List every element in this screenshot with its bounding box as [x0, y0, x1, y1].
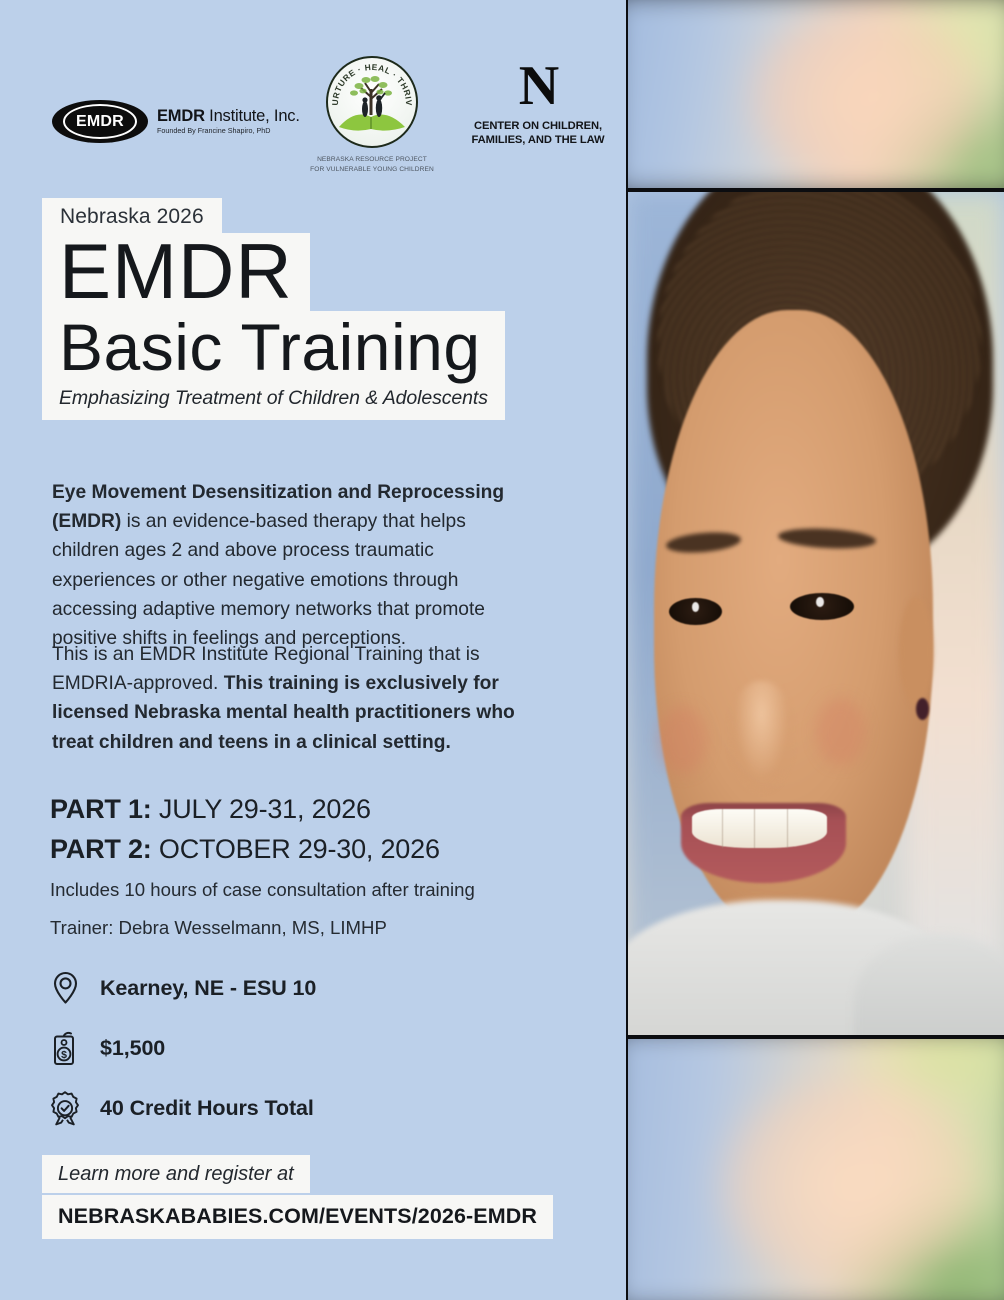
- portrait-earring: [916, 698, 929, 720]
- child-portrait-image: [628, 192, 1004, 1035]
- title-line-2: Basic Training: [42, 311, 505, 382]
- part-2-label: PART 2:: [50, 834, 152, 864]
- schedule-part-2: PART 2: OCTOBER 29-30, 2026: [50, 830, 570, 870]
- emdr-wordmark: EMDR Institute, Inc. Founded By Francine…: [157, 108, 300, 135]
- fact-price-label: $1,500: [100, 1036, 165, 1061]
- photo-panel-main-portrait: [628, 192, 1004, 1035]
- schedule-part-1: PART 1: JULY 29-31, 2026: [50, 790, 570, 830]
- blurred-background-image: [628, 0, 1004, 188]
- portrait-nose: [730, 681, 794, 791]
- logo-row: EMDR EMDR Institute, Inc. Founded By Fra…: [46, 56, 566, 180]
- title-subtitle: Emphasizing Treatment of Children & Adol…: [42, 383, 505, 420]
- portrait-cheek-right: [816, 698, 865, 765]
- photo-panel-blurred-bottom: [628, 1039, 1004, 1300]
- portrait-teeth: [692, 809, 827, 848]
- emdr-oval-mark-icon: EMDR: [52, 100, 148, 143]
- portrait-eye-highlight-right: [816, 597, 824, 607]
- facts-list: Kearney, NE - ESU 10 $ $1,500: [46, 958, 566, 1138]
- title-line-2-group: Basic Training Emphasizing Treatment of …: [42, 311, 505, 419]
- ccfl-caption-line1: CENTER ON CHILDREN,: [470, 119, 606, 133]
- cta-block: Learn more and register at NEBRASKABABIE…: [42, 1155, 553, 1239]
- part-2-value: OCTOBER 29-30, 2026: [152, 834, 440, 864]
- fact-location-label: Kearney, NE - ESU 10: [100, 976, 316, 1001]
- fact-credit-hours: 40 Credit Hours Total: [46, 1078, 566, 1138]
- nrp-caption-line2: FOR VULNERABLE YOUNG CHILDREN: [292, 165, 452, 175]
- schedule-includes: Includes 10 hours of case consultation a…: [50, 879, 570, 901]
- nrp-caption-line1: NEBRASKA RESOURCE PROJECT: [292, 155, 452, 165]
- award-ribbon-icon: [46, 1088, 84, 1128]
- nebraska-n-icon: N: [470, 60, 606, 113]
- map-pin-icon: [46, 968, 84, 1008]
- fact-location: Kearney, NE - ESU 10: [46, 958, 566, 1018]
- fact-credit-hours-label: 40 Credit Hours Total: [100, 1096, 314, 1121]
- eligibility-paragraph: This is an EMDR Institute Regional Train…: [52, 640, 530, 757]
- title-line-1: EMDR: [42, 233, 310, 311]
- photo-column: [626, 0, 1004, 1300]
- content-column: EMDR EMDR Institute, Inc. Founded By Fra…: [0, 0, 626, 1300]
- photo-panel-blurred-top: [628, 0, 1004, 188]
- schedule-block: PART 1: JULY 29-31, 2026 PART 2: OCTOBER…: [50, 790, 570, 939]
- emdr-institute-name: EMDR Institute, Inc.: [157, 108, 300, 125]
- part-1-label: PART 1:: [50, 794, 152, 824]
- price-tag-icon: $: [46, 1028, 84, 1068]
- trainer-name: Trainer: Debra Wesselmann, MS, LIMHP: [50, 917, 570, 939]
- logo-emdr-institute: EMDR EMDR Institute, Inc. Founded By Fra…: [52, 100, 300, 143]
- part-1-value: JULY 29-31, 2026: [152, 794, 371, 824]
- tree-and-children-illustration-icon: [335, 69, 409, 135]
- emdr-institute-tagline: Founded By Francine Shapiro, PhD: [157, 127, 300, 135]
- cta-url[interactable]: NEBRASKABABIES.COM/EVENTS/2026-EMDR: [42, 1195, 553, 1239]
- fact-price: $ $1,500: [46, 1018, 566, 1078]
- nrp-caption: NEBRASKA RESOURCE PROJECT FOR VULNERABLE…: [292, 155, 452, 174]
- cta-lead-text: Learn more and register at: [42, 1155, 310, 1193]
- logo-nebraska-resource-project: NURTURE · HEAL · THRIVE: [292, 56, 452, 174]
- ccfl-caption: CENTER ON CHILDREN, FAMILIES, AND THE LA…: [470, 119, 606, 147]
- logo-center-on-children: N CENTER ON CHILDREN, FAMILIES, AND THE …: [470, 60, 606, 147]
- ccfl-caption-line2: FAMILIES, AND THE LAW: [470, 133, 606, 147]
- flyer-page: EMDR EMDR Institute, Inc. Founded By Fra…: [0, 0, 1004, 1300]
- tree-emblem-icon: NURTURE · HEAL · THRIVE: [326, 56, 418, 148]
- intro-paragraph: Eye Movement Desensitization and Reproce…: [52, 478, 530, 653]
- title-block: Nebraska 2026 EMDR Basic Training Emphas…: [42, 198, 505, 420]
- portrait-ear: [899, 597, 933, 707]
- blurred-background-image-bottom: [628, 1039, 1004, 1300]
- portrait-cheek-left: [658, 706, 707, 773]
- emdr-mark-text: EMDR: [63, 104, 137, 139]
- svg-text:$: $: [61, 1049, 67, 1061]
